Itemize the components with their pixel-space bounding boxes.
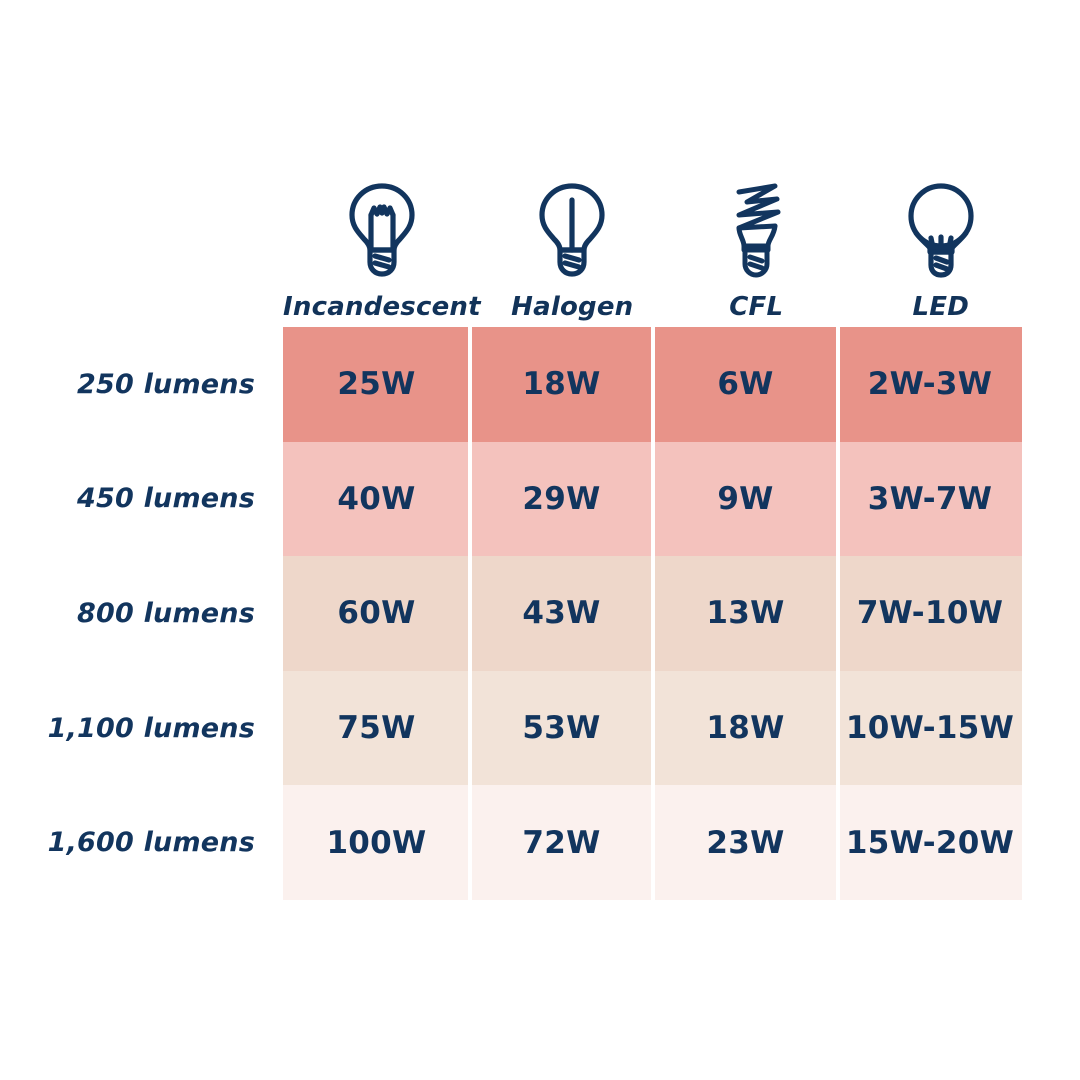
cell-incandescent-1600: 100W — [283, 785, 470, 900]
header-column-incandescent: Incandescent — [283, 160, 481, 320]
cell-led-250: 2W-3W — [838, 327, 1022, 442]
header-label-led: LED — [913, 294, 970, 320]
row-label-1600-lumens: 1,600 lumens — [0, 785, 255, 900]
cell-led-1100: 10W-15W — [838, 671, 1022, 786]
cell-led-800: 7W-10W — [838, 556, 1022, 671]
cell-incandescent-800: 60W — [283, 556, 470, 671]
row-label-450-lumens: 450 lumens — [0, 442, 255, 557]
row-label-250-lumens: 250 lumens — [0, 327, 255, 442]
header-label-incandescent: Incandescent — [283, 294, 481, 320]
header-column-led: LED — [849, 160, 1033, 320]
incandescent-bulb-icon — [343, 180, 421, 280]
header-column-cfl: CFL — [664, 160, 849, 320]
column-divider-3 — [836, 327, 840, 900]
column-divider-1 — [468, 327, 472, 900]
cell-halogen-250: 18W — [470, 327, 653, 442]
cell-halogen-450: 29W — [470, 442, 653, 557]
cell-led-450: 3W-7W — [838, 442, 1022, 557]
cell-halogen-800: 43W — [470, 556, 653, 671]
header-label-cfl: CFL — [729, 294, 783, 320]
cell-halogen-1600: 72W — [470, 785, 653, 900]
header-column-halogen: Halogen — [481, 160, 664, 320]
cell-led-1600: 15W-20W — [838, 785, 1022, 900]
row-label-800-lumens: 800 lumens — [0, 556, 255, 671]
header-label-halogen: Halogen — [511, 294, 633, 320]
cell-incandescent-450: 40W — [283, 442, 470, 557]
cell-cfl-1100: 18W — [653, 671, 838, 786]
comparison-table: 25W 18W 6W 2W-3W 40W 29W 9W 3W-7W 60W 43… — [283, 327, 1022, 900]
led-bulb-icon — [902, 180, 980, 280]
row-label-column: 250 lumens 450 lumens 800 lumens 1,100 l… — [0, 327, 255, 900]
lumens-to-watts-comparison-chart: Incandescent Halogen — [0, 0, 1080, 1080]
cell-cfl-250: 6W — [653, 327, 838, 442]
cell-cfl-450: 9W — [653, 442, 838, 557]
row-label-1100-lumens: 1,100 lumens — [0, 671, 255, 786]
cell-cfl-1600: 23W — [653, 785, 838, 900]
cell-incandescent-250: 25W — [283, 327, 470, 442]
cell-halogen-1100: 53W — [470, 671, 653, 786]
cfl-bulb-icon — [717, 180, 795, 280]
cell-incandescent-1100: 75W — [283, 671, 470, 786]
cell-cfl-800: 13W — [653, 556, 838, 671]
halogen-bulb-icon — [533, 180, 611, 280]
column-divider-2 — [651, 327, 655, 900]
chart-header: Incandescent Halogen — [283, 160, 1022, 320]
